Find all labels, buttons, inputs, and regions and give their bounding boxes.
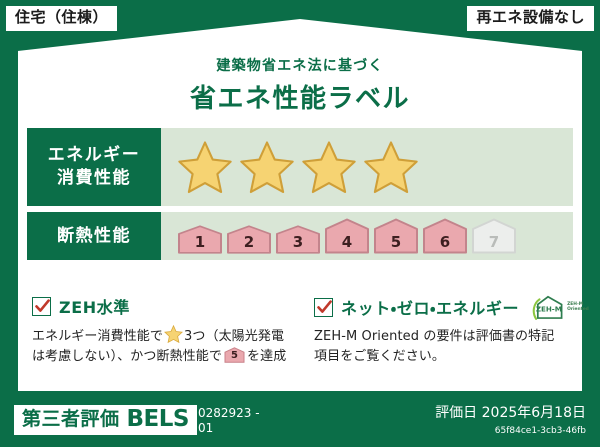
star-icon-filled [301, 140, 357, 194]
svg-text:ZEH-M: ZEH-M [536, 304, 562, 313]
insulation-performance-value-cell: 1234567 [161, 212, 573, 260]
note-zeh-body: エネルギー消費性能で3つ（太陽光発電は考慮しない）、かつ断熱性能で5を達成 [32, 325, 288, 367]
insulation-performance-row: 断熱性能 1234567 [27, 212, 573, 260]
insulation-grade-badge: 1 [177, 225, 223, 254]
inline-grade-badge-value: 5 [224, 348, 245, 364]
certificate-number-line2: 01 [198, 421, 288, 436]
note-zeh-title: ZEH水準 [59, 294, 130, 318]
zeh-m-logo-icon: ZEH-M ZEH-M Oriented [531, 294, 589, 320]
insulation-grade-value: 5 [373, 233, 419, 251]
inline-star-icon [163, 329, 184, 344]
note-zeh-header: ZEH水準 [32, 294, 288, 318]
frame-left-border [0, 46, 18, 391]
insulation-grade-badge: 7 [471, 218, 517, 254]
bels-logo-text: BELS [127, 408, 189, 431]
note-zeh-body-pre: エネルギー消費性能で [32, 329, 163, 344]
insulation-grade-value: 4 [324, 233, 370, 251]
note-net-zero-energy: ネット・ゼロ・エネルギー ZEH-M ZEH-M Oriented ZEH-M … [300, 294, 582, 367]
title-zone: 建築物省エネ法に基づく 省エネ性能ラベル [18, 46, 582, 119]
zeh-m-logo-caption: ZEH-M Oriented [567, 302, 589, 312]
insulation-grade-value: 7 [471, 233, 517, 251]
evaluation-date: 評価日 2025年6月18日 [435, 402, 586, 422]
star-icon-filled [177, 140, 233, 194]
insulation-grade-value: 2 [226, 233, 272, 251]
energy-performance-value-cell [161, 128, 573, 206]
performance-rows: エネルギー 消費性能 断熱性能 1234567 [27, 128, 573, 266]
insulation-grade-value: 6 [422, 233, 468, 251]
note-zeh-standard: ZEH水準 エネルギー消費性能で3つ（太陽光発電は考慮しない）、かつ断熱性能で5… [18, 294, 300, 367]
note-nze-body: ZEH-M Oriented の要件は評価書の特記 項目をご覧ください。 [314, 327, 570, 367]
zeh-m-caption-line2: Oriented [567, 307, 589, 312]
building-type-tag: 住宅（住棟） [6, 6, 117, 31]
renewable-equipment-tag: 再エネ設備なし [467, 6, 594, 31]
note-zeh-body-star-count: 3つ（太陽光発電 [184, 329, 284, 344]
star-icon-filled [239, 140, 295, 194]
certificate-number: 0282923 - 01 [198, 406, 288, 436]
checkbox-checked-icon [32, 297, 51, 316]
certificate-number-line1: 0282923 - [198, 406, 288, 421]
note-nze-title: ネット・ゼロ・エネルギー [341, 295, 519, 319]
insulation-label: 断熱性能 [57, 225, 131, 248]
note-nze-body-line1: ZEH-M Oriented の要件は評価書の特記 [314, 327, 570, 347]
energy-label-line2: 消費性能 [57, 167, 131, 190]
bels-badge: 第三者評価 BELS [14, 405, 197, 435]
note-nze-header: ネット・ゼロ・エネルギー ZEH-M ZEH-M Oriented [314, 294, 570, 320]
energy-performance-row: エネルギー 消費性能 [27, 128, 573, 206]
insulation-grade-value: 1 [177, 233, 223, 251]
insulation-grade-scale: 1234567 [177, 218, 517, 254]
page-title: 省エネ性能ラベル [18, 78, 582, 115]
note-zeh-body-post: を達成 [247, 349, 286, 364]
insulation-performance-label-cell: 断熱性能 [27, 212, 161, 260]
insulation-grade-badge: 5 [373, 218, 419, 254]
energy-performance-label-cell: エネルギー 消費性能 [27, 128, 161, 206]
energy-performance-label: 住宅（住棟） 再エネ設備なし 建築物省エネ法に基づく 省エネ性能ラベル エネルギ… [0, 0, 600, 447]
insulation-grade-badge: 3 [275, 225, 321, 254]
frame-right-border [582, 46, 600, 391]
insulation-grade-badge: 4 [324, 218, 370, 254]
energy-label-line1: エネルギー [48, 144, 141, 167]
title-subtitle: 建築物省エネ法に基づく [18, 55, 582, 75]
checkbox-checked-icon [314, 298, 333, 317]
note-nze-body-line2: 項目をご覧ください。 [314, 347, 570, 367]
notes-section: ZEH水準 エネルギー消費性能で3つ（太陽光発電は考慮しない）、かつ断熱性能で5… [18, 294, 582, 367]
document-hash: 65f84ce1-3cb3-46fb [495, 426, 586, 436]
star-rating [177, 140, 419, 194]
insulation-grade-value: 3 [275, 233, 321, 251]
star-icon-filled [363, 140, 419, 194]
inline-grade-badge: 5 [224, 347, 245, 363]
note-zeh-body-mid: は考慮しない）、かつ断熱性能で [32, 349, 222, 364]
insulation-grade-badge: 6 [422, 218, 468, 254]
third-party-evaluation-label: 第三者評価 [22, 410, 120, 429]
insulation-grade-badge: 2 [226, 225, 272, 254]
